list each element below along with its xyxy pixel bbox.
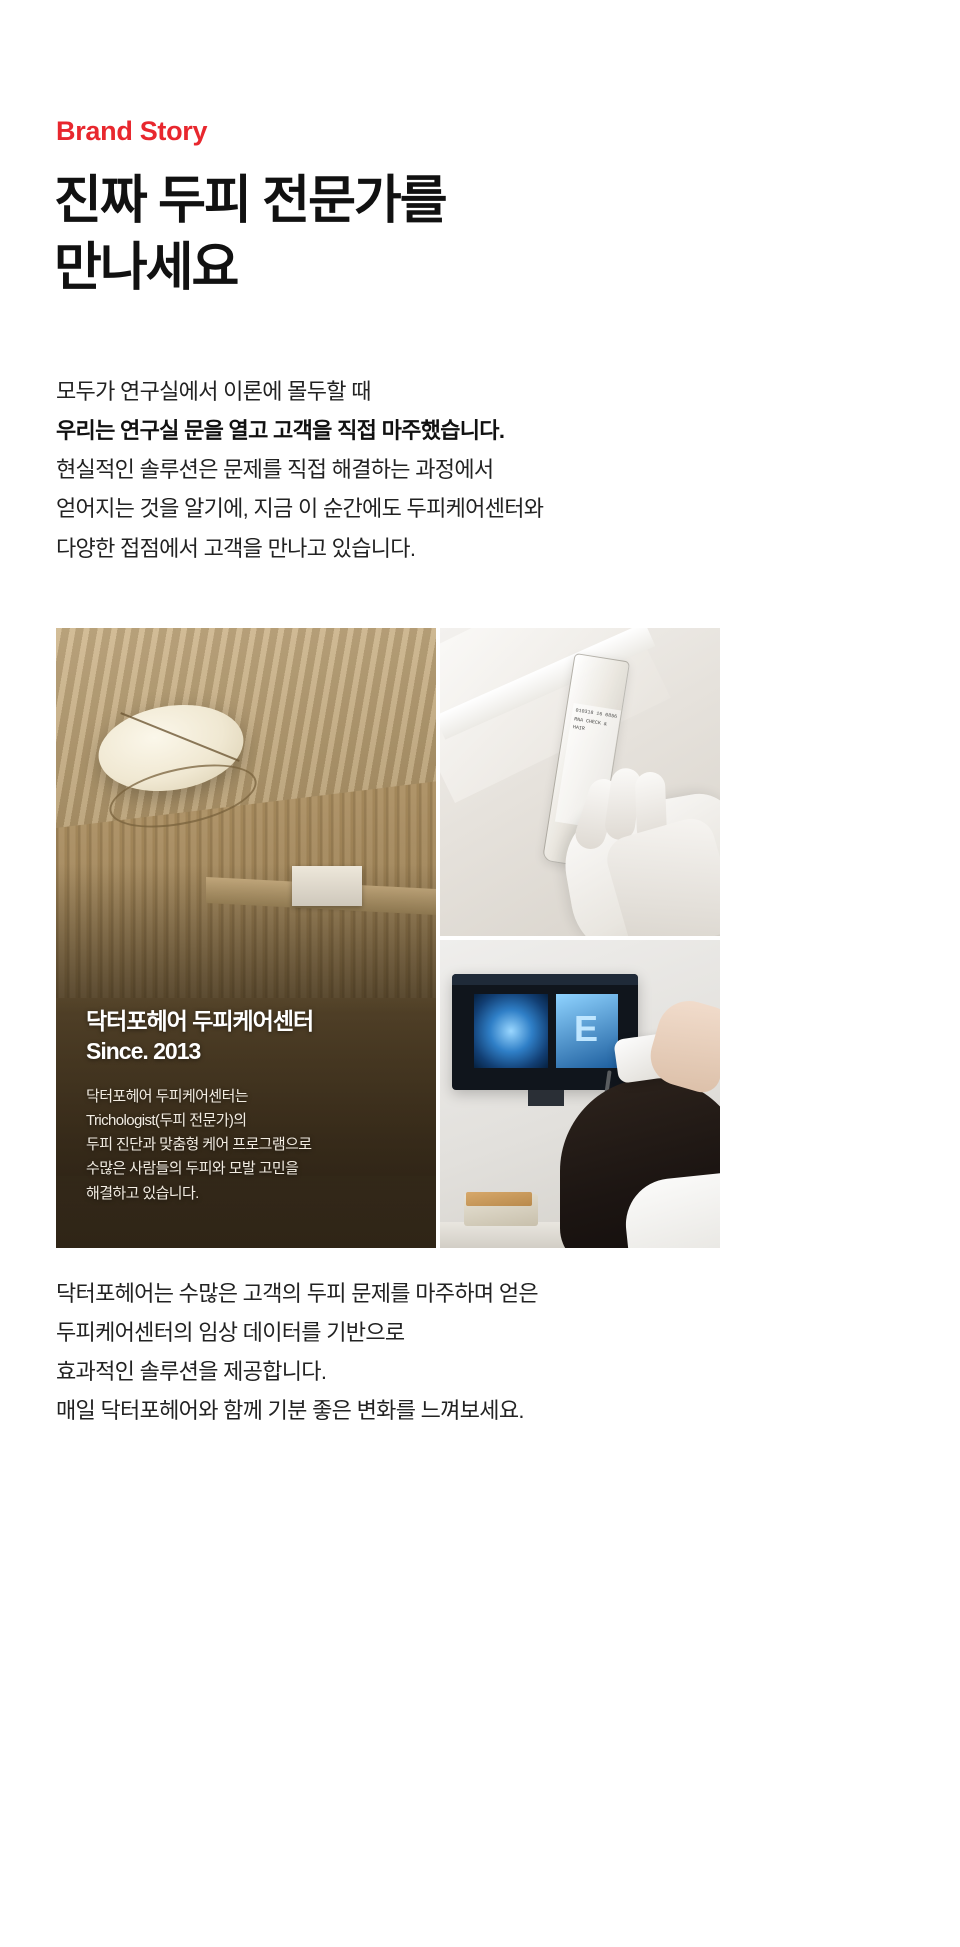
instrument-tray-item [466,1192,532,1206]
intro-line-5: 다양한 접점에서 고객을 만나고 있습니다. [56,529,543,568]
card-overlay-text: 닥터포헤어 두피케어센터 Since. 2013 닥터포헤어 두피케어센터는 T… [86,1007,406,1206]
brand-story-page: Brand Story 진짜 두피 전문가를 만나세요 모두가 연구실에서 이론… [0,0,960,1947]
outro-line-3: 효과적인 솔루션을 제공합니다. [56,1352,538,1391]
intro-line-3: 현실적인 솔루션은 문제를 직접 해결하는 과정에서 [56,450,543,489]
card-overlay-title: 닥터포헤어 두피케어센터 Since. 2013 [86,1007,406,1067]
monitor-stand [528,1090,564,1106]
monitor-letter: E [574,1008,598,1050]
monitor-toolbar [452,974,638,985]
gallery-right-column: 010318 16 0856 RNA CHECK & HAIR E [440,628,720,1248]
outro-line-4: 매일 닥터포헤어와 함께 기분 좋은 변화를 느껴보세요. [56,1391,538,1430]
intro-line-2-emphasis: 우리는 연구실 문을 열고 고객을 직접 마주했습니다. [56,411,543,450]
gallery-card-lab: 010318 16 0856 RNA CHECK & HAIR [440,628,720,936]
gallery-card-diagnosis: E [440,940,720,1248]
scalp-scan-image [474,994,548,1068]
intro-line-4: 얻어지는 것을 알기에, 지금 이 순간에도 두피케어센터와 [56,489,543,528]
intro-paragraph: 모두가 연구실에서 이론에 몰두할 때 우리는 연구실 문을 열고 고객을 직접… [56,372,543,568]
page-title: 진짜 두피 전문가를 만나세요 [54,168,446,301]
intro-line-1: 모두가 연구실에서 이론에 몰두할 때 [56,372,543,411]
card-overlay-body: 닥터포헤어 두피케어센터는 Trichologist(두피 전문가)의 두피 진… [86,1085,406,1206]
outro-paragraph: 닥터포헤어는 수많은 고객의 두피 문제를 마주하며 얻은 두피케어센터의 임상… [56,1274,538,1431]
gallery-card-lobby: 닥터포헤어 두피케어센터 Since. 2013 닥터포헤어 두피케어센터는 T… [56,628,436,1248]
section-eyebrow: Brand Story [56,115,207,147]
photo-gallery: 닥터포헤어 두피케어센터 Since. 2013 닥터포헤어 두피케어센터는 T… [56,628,720,1248]
outro-line-2: 두피케어센터의 임상 데이터를 기반으로 [56,1313,538,1352]
outro-line-1: 닥터포헤어는 수많은 고객의 두피 문제를 마주하며 얻은 [56,1274,538,1313]
